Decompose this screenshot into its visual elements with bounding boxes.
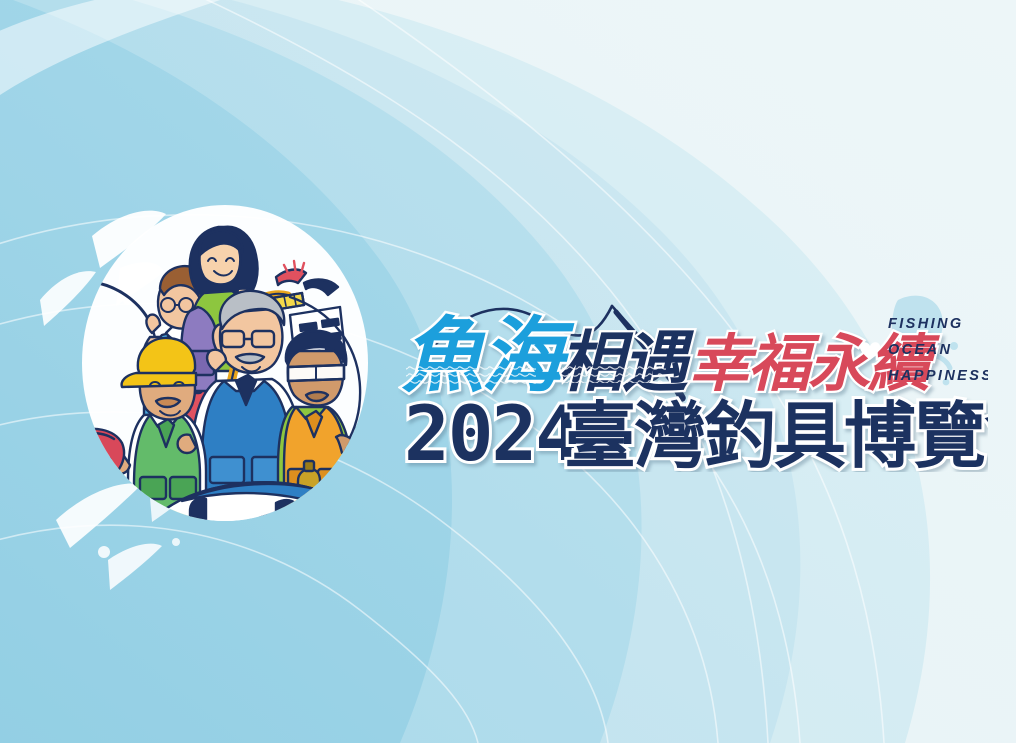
event-title: 2024 臺灣釣具博覽會 (404, 389, 988, 472)
poster-canvas: 魚海 相遇 幸福永續 FISHING OCEAN HAPPINESS 2024 … (0, 0, 1016, 743)
wave-texture (406, 364, 666, 384)
english-line-1: FISHING (888, 316, 964, 332)
event-logo-lockup: 魚海 相遇 幸福永續 FISHING OCEAN HAPPINESS 2024 … (398, 272, 988, 472)
lure-fish (64, 476, 125, 512)
english-line-3: HAPPINESS (888, 368, 988, 384)
english-line-2: OCEAN (888, 342, 952, 358)
anglers-group-illustration (40, 185, 410, 545)
slogan-part3: 幸福永續 (688, 327, 940, 400)
english-slogan: FISHING OCEAN HAPPINESS (888, 316, 988, 384)
title-name: 臺灣釣具博覽會 (564, 394, 988, 472)
title-year: 2024 (404, 389, 579, 472)
spray-bottle (352, 425, 378, 473)
red-bucket (67, 429, 124, 484)
